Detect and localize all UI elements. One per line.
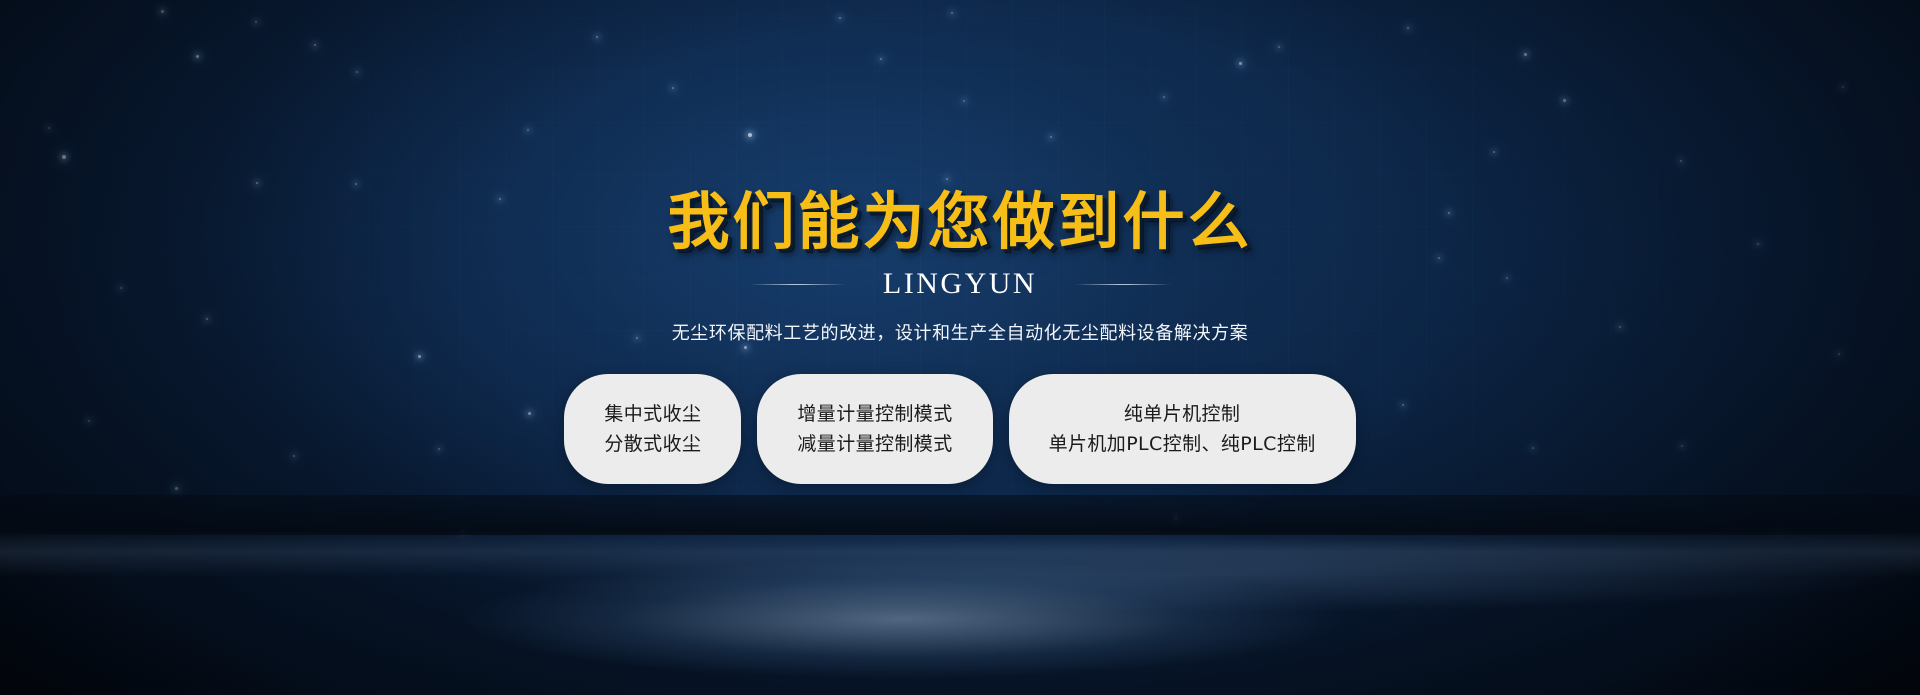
particle-wave bbox=[0, 495, 1920, 695]
feature-pill-metering-mode[interactable]: 增量计量控制模式 减量计量控制模式 bbox=[757, 374, 992, 484]
horizon-haze bbox=[0, 531, 1920, 577]
mesh-glow bbox=[0, 495, 1920, 695]
banner-description: 无尘环保配料工艺的改进，设计和生产全自动化无尘配料设备解决方案 bbox=[672, 319, 1249, 345]
pill-line: 分散式收尘 bbox=[604, 435, 701, 454]
divider-right bbox=[1075, 284, 1171, 285]
page-title: 我们能为您做到什么 bbox=[667, 191, 1252, 253]
pill-line: 纯单片机控制 bbox=[1124, 405, 1240, 424]
feature-pill-row: 集中式收尘 分散式收尘 增量计量控制模式 减量计量控制模式 纯单片机控制 单片机… bbox=[564, 374, 1355, 484]
pill-line: 集中式收尘 bbox=[604, 405, 701, 424]
pill-line: 增量计量控制模式 bbox=[797, 405, 952, 424]
feature-pill-control-system[interactable]: 纯单片机控制 单片机加PLC控制、纯PLC控制 bbox=[1009, 374, 1356, 484]
star-icon bbox=[175, 487, 178, 490]
wave-top-fade bbox=[0, 495, 1920, 535]
pill-line: 减量计量控制模式 bbox=[797, 435, 952, 454]
banner-content: 我们能为您做到什么 LINGYUN 无尘环保配料工艺的改进，设计和生产全自动化无… bbox=[0, 0, 1920, 484]
hero-banner: 我们能为您做到什么 LINGYUN 无尘环保配料工艺的改进，设计和生产全自动化无… bbox=[0, 0, 1920, 695]
feature-pill-dust-collection[interactable]: 集中式收尘 分散式收尘 bbox=[564, 374, 741, 484]
brand-name: LINGYUN bbox=[883, 269, 1037, 299]
pill-line: 单片机加PLC控制、纯PLC控制 bbox=[1049, 435, 1316, 454]
brand-row: LINGYUN bbox=[749, 269, 1171, 299]
divider-left bbox=[749, 284, 845, 285]
